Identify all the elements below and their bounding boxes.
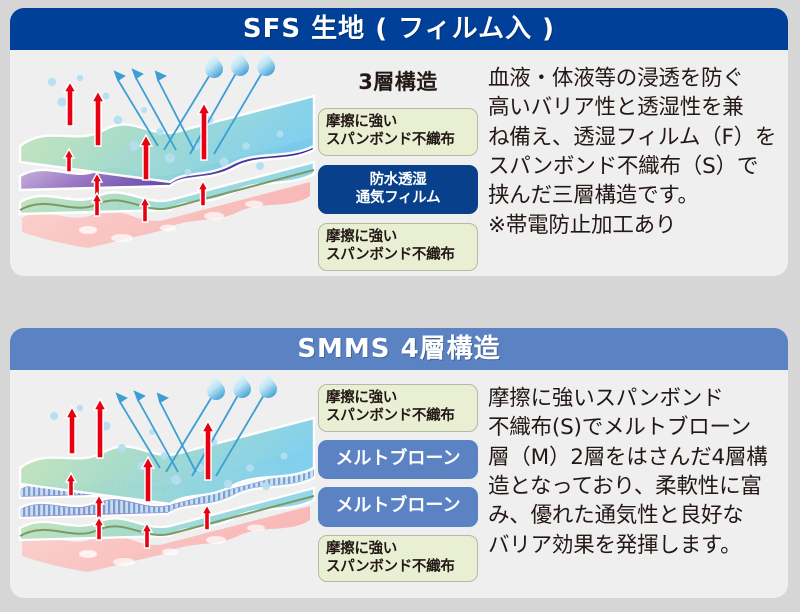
layer-label-stack-sfs: 3層構造 摩擦に強い スパンボンド不織布 防水透湿 通気フィルム 摩擦に強い ス… bbox=[318, 66, 478, 271]
description-line: 高いバリア性と透湿性を兼 bbox=[488, 93, 788, 122]
card-sfs: SFS 生地 ( フィルム入 ) bbox=[10, 8, 788, 276]
layer-label-line2: スパンボンド不織布 bbox=[326, 407, 471, 425]
description-line: 摩擦に強いスパンボンド bbox=[488, 384, 788, 413]
skin-layer bbox=[22, 182, 310, 248]
layer-label-top-spunbond: 摩擦に強い スパンボンド不織布 bbox=[318, 384, 478, 432]
layer-label-line2: スパンボンド不織布 bbox=[326, 246, 471, 264]
layer-label-film: 防水透湿 通気フィルム bbox=[318, 165, 478, 215]
description-line: スパンボンド不織布（S）で bbox=[488, 152, 788, 181]
layer-label-line2: スパンボンド不織布 bbox=[326, 131, 471, 149]
layer-label-line1: 摩擦に強い bbox=[326, 390, 397, 406]
description-sfs: 血液・体液等の浸透を防ぐ 高いバリア性と透湿性を兼 ね備え、透湿フィルム（F）を… bbox=[488, 64, 788, 240]
page-root: SFS 生地 ( フィルム入 ) bbox=[0, 0, 800, 612]
layer-label-line1: メルトブローン bbox=[335, 495, 460, 516]
description-line: ね備え、透湿フィルム（F）を bbox=[488, 123, 788, 152]
top-spunbond-sheet bbox=[20, 96, 314, 182]
card-sfs-body: 3層構造 摩擦に強い スパンボンド不織布 防水透湿 通気フィルム 摩擦に強い ス… bbox=[10, 50, 788, 276]
description-line: み、優れた通気性と良好な bbox=[488, 501, 788, 530]
layer-label-meltblown-2: メルトブローン bbox=[318, 487, 478, 527]
layer-label-line2: スパンボンド不織布 bbox=[326, 558, 471, 576]
description-smms: 摩擦に強いスパンボンド 不織布(S)でメルトブローン 層（M）2層をはさんだ4層… bbox=[488, 384, 788, 560]
layer-label-line1: 摩擦に強い bbox=[326, 541, 397, 557]
layer-label-meltblown-1: メルトブローン bbox=[318, 440, 478, 480]
description-line: 層（M）2層をはさんだ4層構 bbox=[488, 443, 788, 472]
description-note: ※帯電防止加工あり bbox=[488, 211, 788, 240]
description-line: 血液・体液等の浸透を防ぐ bbox=[488, 64, 788, 93]
three-layer-fabric-illustration bbox=[18, 50, 318, 260]
description-line: 挟んだ三層構造です。 bbox=[488, 181, 788, 210]
four-layer-fabric-illustration bbox=[18, 370, 318, 580]
stack-title-sfs: 3層構造 bbox=[318, 66, 478, 96]
description-line: 不織布(S)でメルトブローン bbox=[488, 413, 788, 442]
layer-label-line1: 摩擦に強い bbox=[326, 114, 397, 130]
layer-label-line2: 通気フィルム bbox=[323, 189, 473, 207]
layer-label-line1: 摩擦に強い bbox=[326, 229, 397, 245]
card-sfs-header: SFS 生地 ( フィルム入 ) bbox=[10, 8, 788, 50]
layer-label-bottom-spunbond: 摩擦に強い スパンボンド不織布 bbox=[318, 223, 478, 271]
description-line: バリア効果を発揮します。 bbox=[488, 531, 788, 560]
layer-label-line1: 防水透湿 bbox=[370, 172, 427, 188]
layer-label-top-spunbond: 摩擦に強い スパンボンド不織布 bbox=[318, 108, 478, 156]
description-line: 造となっており、柔軟性に富 bbox=[488, 472, 788, 501]
card-smms: SMMS 4層構造 bbox=[10, 328, 788, 598]
layer-label-stack-smms: 摩擦に強い スパンボンド不織布 メルトブローン メルトブローン 摩擦に強い スパ… bbox=[318, 384, 478, 582]
layer-label-line1: メルトブローン bbox=[335, 448, 460, 469]
card-smms-header: SMMS 4層構造 bbox=[10, 328, 788, 370]
layer-label-bottom-spunbond: 摩擦に強い スパンボンド不織布 bbox=[318, 535, 478, 583]
card-smms-body: 摩擦に強い スパンボンド不織布 メルトブローン メルトブローン 摩擦に強い スパ… bbox=[10, 370, 788, 598]
